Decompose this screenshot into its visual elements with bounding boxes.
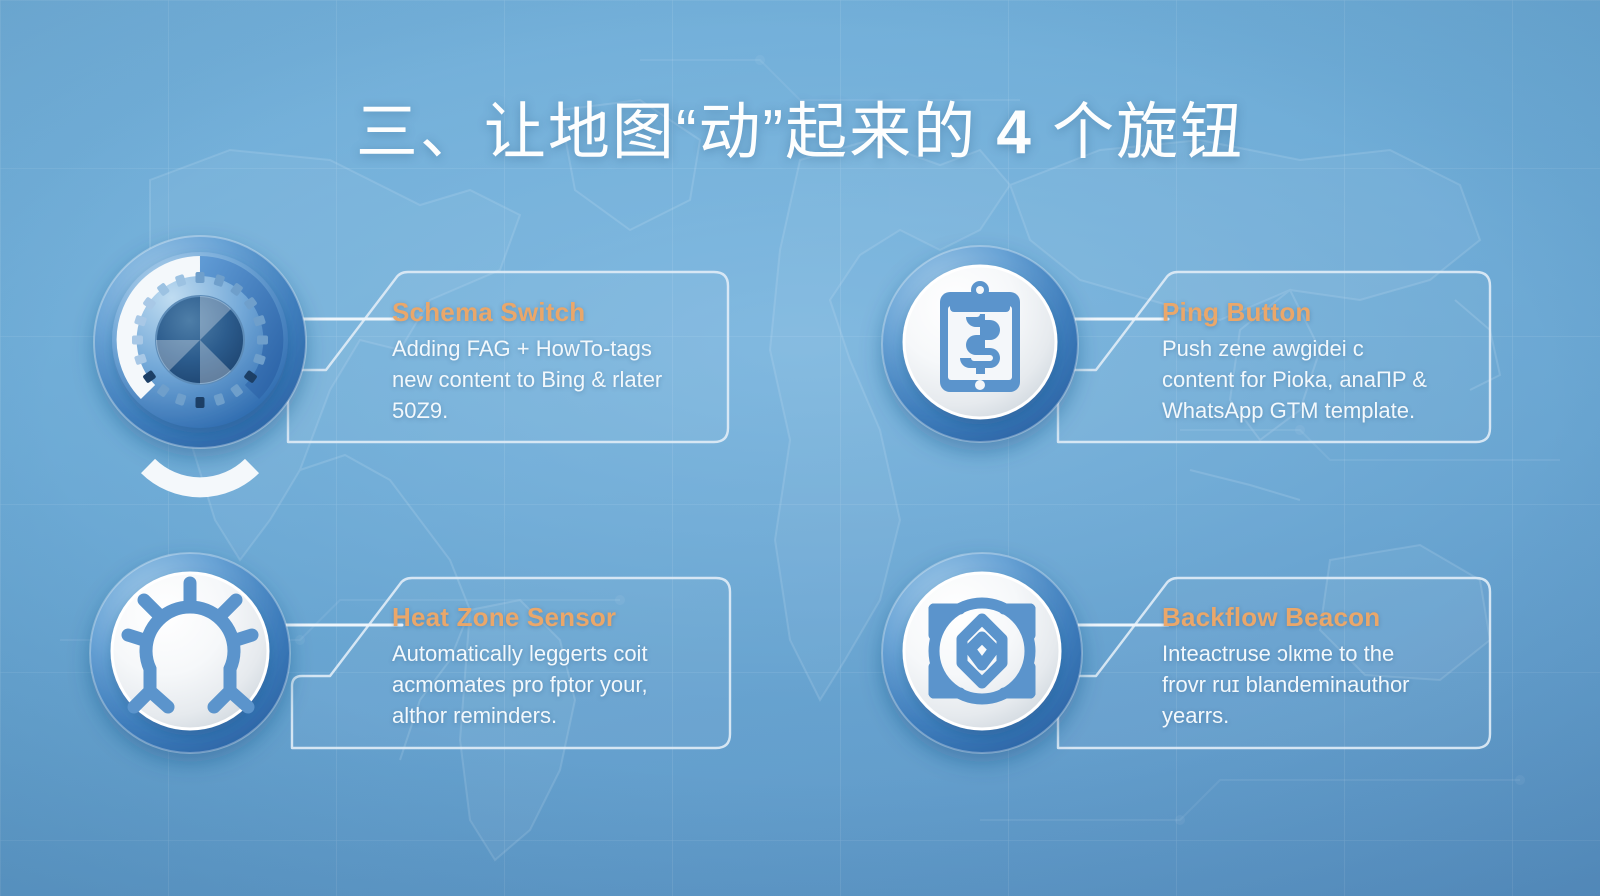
card-text-ping-button: Ping Button Push zene awgidei c content … <box>1162 297 1492 426</box>
card-text-schema-switch: Schema Switch Adding FAG + HowTo-tags ne… <box>392 297 722 426</box>
dial-knob-icon <box>127 266 274 487</box>
card-desc-line-2: new content to Bing & rlater <box>392 365 722 396</box>
card-desc-line-3: yearrs. <box>1162 701 1502 732</box>
title-prefix: 三、让地图“动”起来的 <box>356 98 997 167</box>
card-desc-line-2: frovr ruɪ blandeminauthor <box>1162 670 1502 701</box>
slide-title: 三、让地图“动”起来的 4 个旋钮 <box>0 97 1600 169</box>
clipboard-dollar-icon <box>940 281 1020 392</box>
card-text-backflow-beacon: Backflow Beacon Inteactruse ɔlкme to the… <box>1162 602 1502 731</box>
card-heading-schema-switch: Schema Switch <box>392 297 722 328</box>
card-desc-line-1: Automatically leggerts coit <box>392 639 722 670</box>
card-heading-ping-button: Ping Button <box>1162 297 1492 328</box>
card-desc-line-1: Push zene awgidei c <box>1162 334 1492 365</box>
card-desc-line-3: althor reminders. <box>392 701 722 732</box>
icon-medallion-schema-switch[interactable] <box>84 228 316 460</box>
card-heading-backflow-beacon: Backflow Beacon <box>1162 602 1502 633</box>
card-desc-line-2: content for Pioka, anaПP & <box>1162 365 1492 396</box>
card-desc-line-3: 50Z9. <box>392 396 722 427</box>
card-desc-line-3: WhatsApp GTM template. <box>1162 396 1492 427</box>
card-desc-line-2: acmomates pro fptor your, <box>392 670 722 701</box>
card-desc-line-1: Inteactruse ɔlкme to the <box>1162 639 1502 670</box>
slide-canvas: 三、让地图“动”起来的 4 个旋钮 Schema Switch Adding F… <box>0 0 1600 896</box>
icon-medallion-ping-button[interactable] <box>872 240 1088 456</box>
title-suffix: 个旋钮 <box>1033 98 1244 167</box>
icon-medallion-heat-zone-sensor[interactable] <box>80 545 300 765</box>
card-desc-line-1: Adding FAG + HowTo-tags <box>392 334 722 365</box>
icon-medallion-backflow-beacon[interactable] <box>872 545 1092 765</box>
card-heading-heat-zone-sensor: Heat Zone Sensor <box>392 602 722 633</box>
title-number: 4 <box>996 98 1032 167</box>
card-text-heat-zone-sensor: Heat Zone Sensor Automatically leggerts … <box>392 602 722 731</box>
